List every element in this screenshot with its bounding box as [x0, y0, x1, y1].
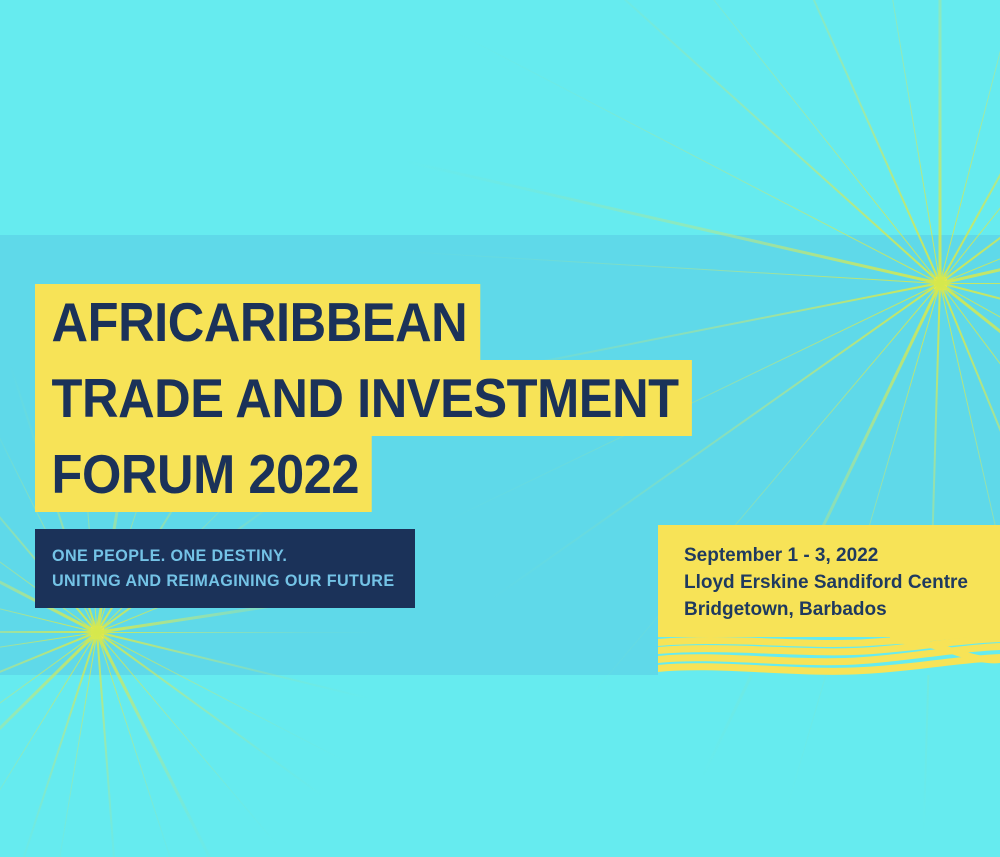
- title-row: AFRICARIBBEAN: [35, 284, 749, 360]
- banner-title: AFRICARIBBEAN TRADE AND INVESTMENT FORUM…: [35, 284, 749, 512]
- title-row: FORUM 2022: [35, 436, 749, 512]
- title-line-3: FORUM 2022: [35, 436, 372, 512]
- event-venue: Lloyd Erskine Sandiford Centre: [684, 569, 1000, 596]
- event-dates: September 1 - 3, 2022: [684, 542, 1000, 569]
- title-line-2: TRADE AND INVESTMENT: [35, 360, 692, 436]
- tagline-line-2: UNITING AND REIMAGINING OUR FUTURE: [52, 568, 397, 593]
- event-location: Bridgetown, Barbados: [684, 596, 1000, 623]
- banner-tagline: ONE PEOPLE. ONE DESTINY. UNITING AND REI…: [35, 529, 415, 608]
- event-banner: AFRICARIBBEAN TRADE AND INVESTMENT FORUM…: [0, 0, 1000, 857]
- tagline-line-1: ONE PEOPLE. ONE DESTINY.: [52, 543, 397, 568]
- title-row: TRADE AND INVESTMENT: [35, 360, 749, 436]
- event-info-panel: September 1 - 3, 2022 Lloyd Erskine Sand…: [658, 525, 1000, 637]
- title-line-1: AFRICARIBBEAN: [35, 284, 480, 360]
- wave-lines-icon: [658, 637, 1000, 675]
